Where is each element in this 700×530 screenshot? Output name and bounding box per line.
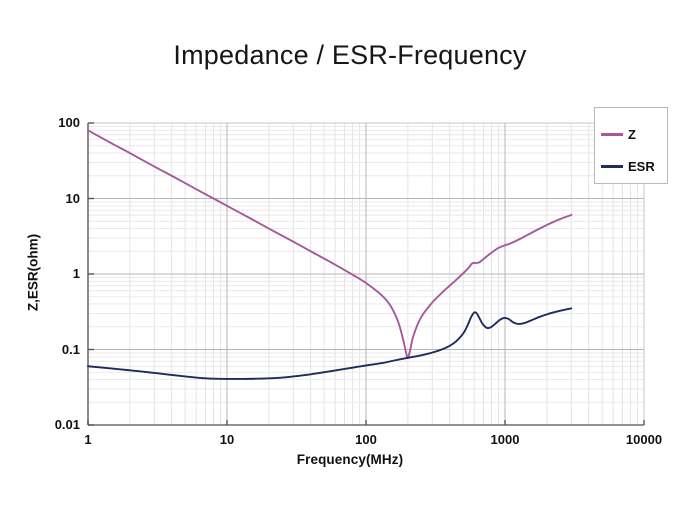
x-tick-label: 100 bbox=[326, 432, 406, 447]
legend-item-esr: ESR bbox=[601, 160, 655, 173]
x-tick-label: 1 bbox=[48, 432, 128, 447]
chart-container: Impedance / ESR-Frequency 11010010001000… bbox=[0, 0, 700, 530]
legend-swatch-z bbox=[601, 133, 623, 135]
y-tick-label: 10 bbox=[2, 191, 80, 206]
plot-area bbox=[0, 0, 700, 530]
x-tick-label: 10 bbox=[187, 432, 267, 447]
chart-legend: Z ESR bbox=[594, 107, 668, 184]
legend-swatch-esr bbox=[601, 165, 623, 167]
plot-svg bbox=[0, 0, 700, 530]
legend-label-z: Z bbox=[628, 128, 636, 141]
legend-label-esr: ESR bbox=[628, 160, 655, 173]
y-tick-label: 0.1 bbox=[2, 342, 80, 357]
x-tick-label: 10000 bbox=[604, 432, 684, 447]
y-axis-label: Z,ESR(ohm) bbox=[26, 193, 41, 353]
y-tick-label: 0.01 bbox=[2, 417, 80, 432]
x-axis-label: Frequency(MHz) bbox=[0, 452, 700, 467]
x-tick-label: 1000 bbox=[465, 432, 545, 447]
y-tick-label: 1 bbox=[2, 266, 80, 281]
y-tick-label: 100 bbox=[2, 115, 80, 130]
legend-item-z: Z bbox=[601, 128, 636, 141]
